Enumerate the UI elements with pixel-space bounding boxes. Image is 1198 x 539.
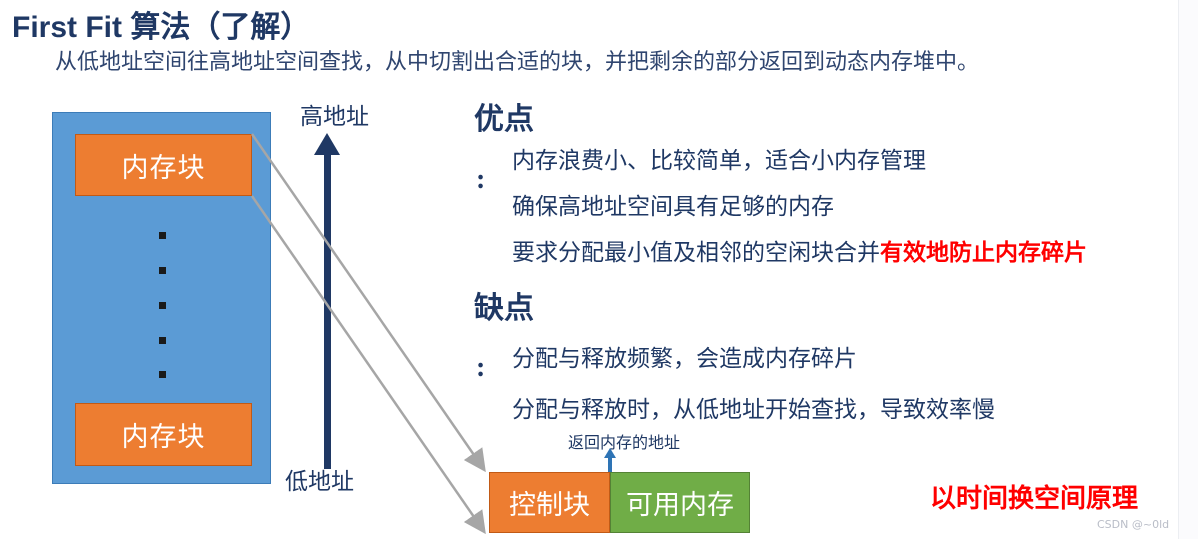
usable-memory-block: 可用内存	[610, 472, 750, 533]
slide-right-edge	[1178, 0, 1198, 539]
pros-line-2: 确保高地址空间具有足够的内存	[512, 187, 834, 221]
return-arrow-shaft-icon	[608, 456, 612, 473]
page-title-cjk: 算法（了解）	[130, 11, 310, 44]
page-subtitle: 从低地址空间往高地址空间查找，从中切割出合适的块，并把剩余的部分返回到动态内存堆…	[55, 44, 979, 76]
pros-colon-marker: :	[476, 166, 485, 194]
pros-line-3-emphasis: 有效地防止内存碎片	[880, 240, 1087, 265]
slide-canvas: First Fit 算法（了解） 从低地址空间往高地址空间查找，从中切割出合适的…	[0, 0, 1198, 539]
pros-line-3-text: 要求分配最小值及相邻的空闲块合并	[512, 240, 880, 265]
control-block: 控制块	[489, 472, 610, 533]
page-title-latin: First Fit	[12, 11, 130, 44]
ellipsis-dots	[159, 232, 167, 378]
return-address-label: 返回内存的地址	[568, 429, 680, 453]
address-arrow-shaft-icon	[324, 152, 331, 469]
cons-colon-marker: :	[476, 354, 485, 382]
csdn-watermark: CSDN @~0ld	[1097, 518, 1169, 531]
principle-note: 以时间换空间原理	[930, 478, 1138, 515]
memory-block-bottom: 内存块	[75, 403, 252, 466]
high-address-label: 高地址	[300, 97, 369, 131]
pros-line-1: 内存浪费小、比较简单，适合小内存管理	[512, 141, 926, 175]
low-address-label: 低地址	[285, 462, 354, 496]
pros-heading: 优点	[474, 94, 534, 138]
page-title: First Fit 算法（了解）	[12, 2, 310, 46]
pros-line-3: 要求分配最小值及相邻的空闲块合并有效地防止内存碎片	[512, 233, 1087, 267]
cons-line-1: 分配与释放频繁，会造成内存碎片	[512, 339, 857, 373]
memory-block-top: 内存块	[75, 134, 252, 196]
cons-line-2: 分配与释放时，从低地址开始查找，导致效率慢	[512, 390, 995, 424]
cons-heading: 缺点	[474, 283, 534, 327]
